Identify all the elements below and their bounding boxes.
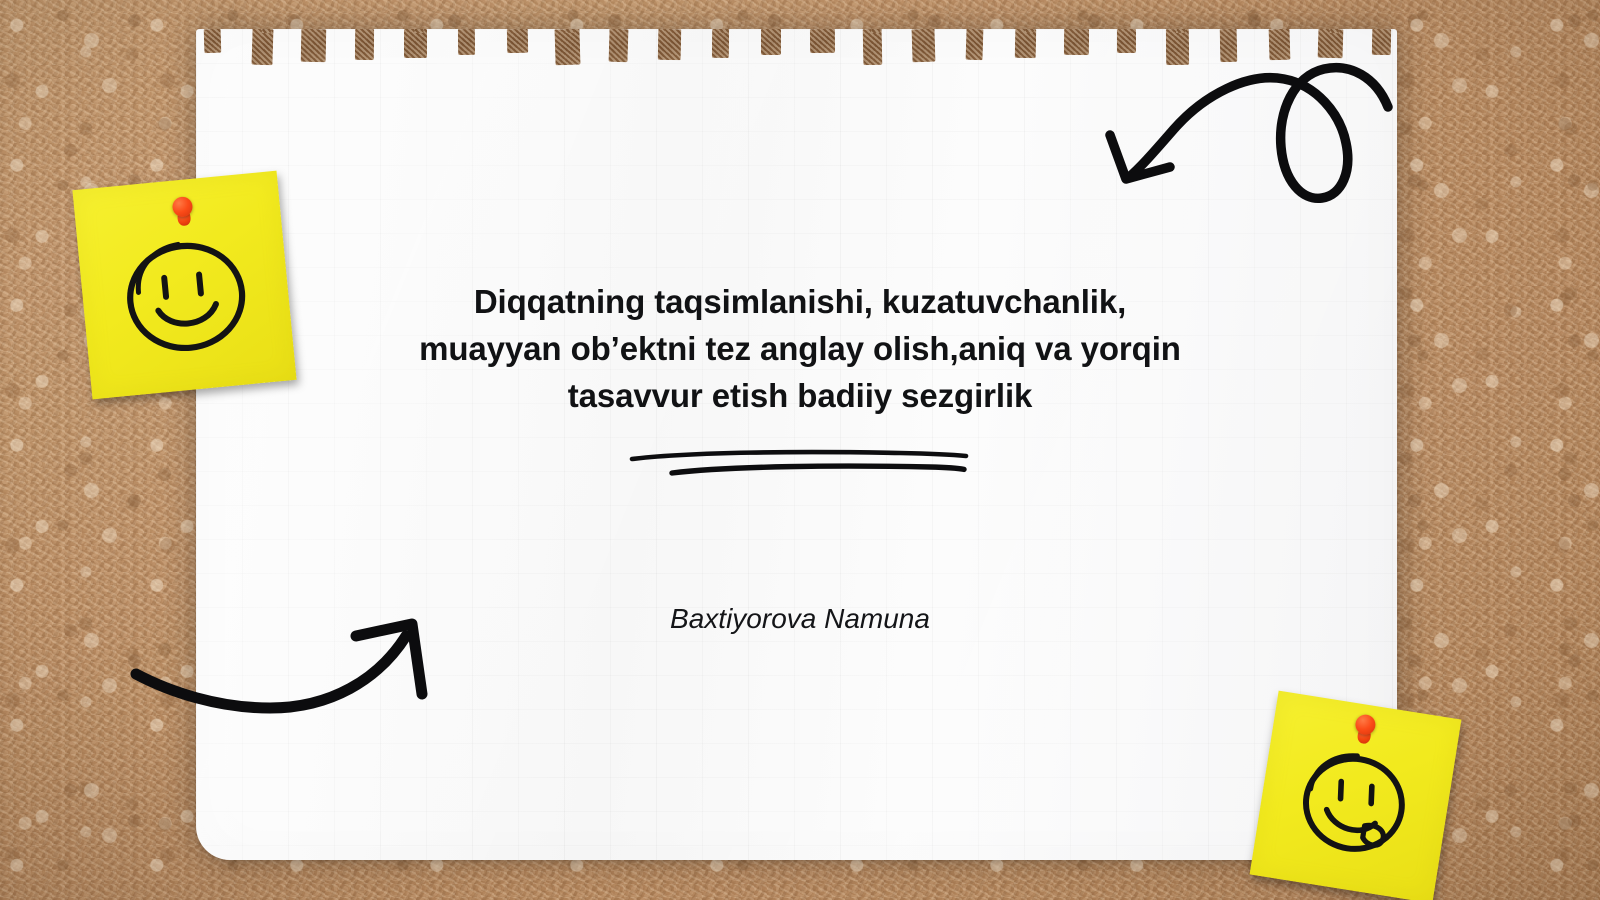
paper-sheet: Diqqatning taqsimlanishi, kuzatuvchanlik… (196, 29, 1397, 860)
paper-tear-notch (658, 29, 681, 60)
paper-tear-notch (1371, 29, 1390, 55)
paper-tear-notch-tip (262, 29, 275, 33)
paper-tear-notch (252, 29, 274, 65)
paper-tear-notch (1220, 29, 1238, 62)
page-title: Diqqatning taqsimlanishi, kuzatuvchanlik… (300, 278, 1300, 419)
title-line-2: muayyan ob’ektni tez anglay olish,aniq v… (300, 325, 1300, 372)
paper-tear-notch (1064, 29, 1089, 55)
paper-tear-notch (965, 29, 983, 60)
sticky-note-top-left[interactable] (72, 171, 296, 400)
paper-tear-notch (609, 29, 629, 62)
paper-tear-notch (506, 29, 527, 53)
paper-tear-notch (457, 29, 474, 55)
paper-tear-notch-tip (871, 29, 884, 33)
paper-sheen-overlay (196, 29, 1397, 860)
title-line-3: tasavvur etish badiiy sezgirlik (300, 372, 1300, 419)
paper-tear-notch (404, 29, 427, 58)
paper-tear-notch-tip (1176, 29, 1189, 33)
paper-tear-notch (1166, 29, 1189, 65)
paper-tear-notch (1015, 29, 1036, 58)
paper-tear-notch (1117, 29, 1136, 53)
paper-tear-notches (196, 29, 1397, 73)
paper-tear-notch (355, 29, 374, 60)
paper-tear-notch (1268, 29, 1290, 60)
underline-doodle-icon (600, 428, 980, 488)
paper-tear-notch (555, 29, 581, 65)
pushpin-icon (169, 196, 198, 232)
paper-tear-notch (1317, 29, 1342, 58)
paper-tear-notch-tip (566, 29, 579, 33)
paper-tear-notch (712, 29, 729, 58)
paper-tear-notch-tip (1024, 29, 1037, 33)
paper-tear-notch (912, 29, 936, 63)
paper-tear-notch-tip (414, 29, 427, 33)
paper-tear-notch-tip (719, 29, 732, 33)
paper-tear-notch (809, 29, 834, 53)
title-line-1: Diqqatning taqsimlanishi, kuzatuvchanlik… (300, 278, 1300, 325)
slide-canvas: Diqqatning taqsimlanishi, kuzatuvchanlik… (0, 0, 1600, 900)
paper-tear-notch (301, 29, 326, 62)
paper-tear-notch (203, 29, 221, 53)
paper-tear-notch (761, 29, 782, 55)
sticky-note-bottom-right[interactable] (1250, 691, 1462, 900)
paper-tear-notch-tip (1329, 29, 1342, 33)
author-name: Baxtiyorova Namuna (560, 603, 1040, 635)
paper-tear-notch (863, 29, 883, 65)
pushpin-icon (1349, 713, 1380, 751)
